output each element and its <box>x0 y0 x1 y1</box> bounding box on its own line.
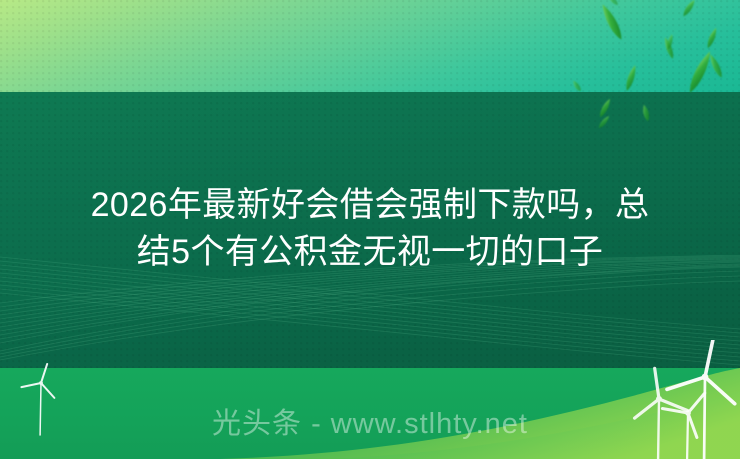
title-line-1: 2026年最新好会借会强制下款吗，总 <box>38 182 702 229</box>
site-watermark: 光头条 - www.stlhty.net <box>0 404 740 444</box>
poster-canvas: 2026年最新好会借会强制下款吗，总 结5个有公积金无视一切的口子 光头条 - … <box>0 0 740 459</box>
title-line-2: 结5个有公积金无视一切的口子 <box>38 229 702 276</box>
poster-title: 2026年最新好会借会强制下款吗，总 结5个有公积金无视一切的口子 <box>0 182 740 276</box>
background-band-top <box>0 0 740 92</box>
